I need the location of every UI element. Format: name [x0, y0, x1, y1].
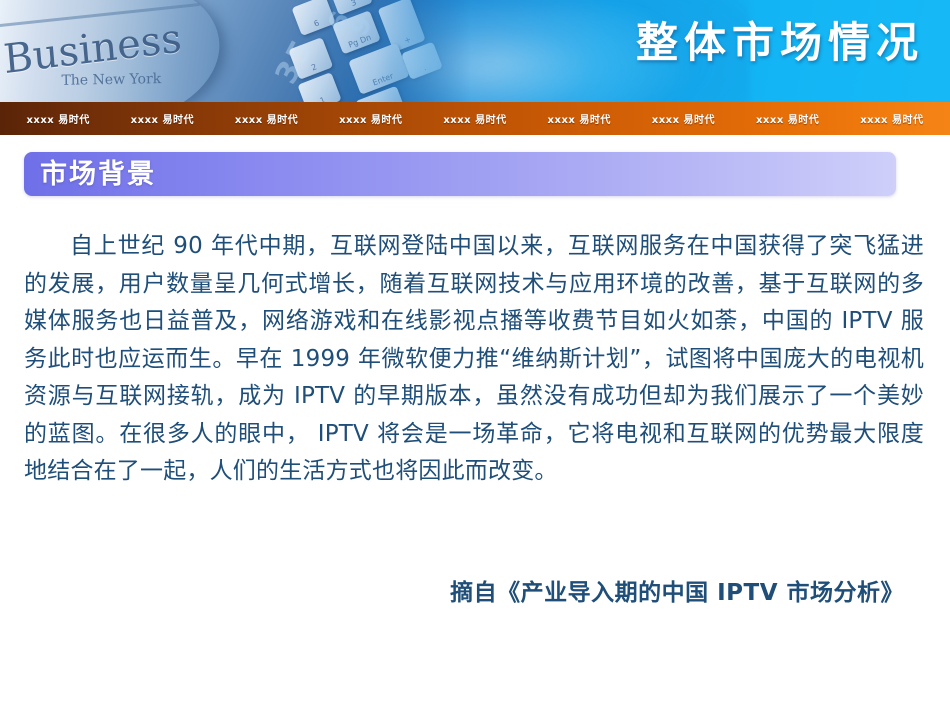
- branding-label: xxxx 易时代: [652, 111, 715, 126]
- branding-label: xxxx 易时代: [26, 111, 89, 126]
- branding-label: xxxx 易时代: [443, 111, 506, 126]
- banner-photo-mask: 6 3 Pg Dn 2 1 + Enter . Del 6 9 35 Bu: [0, 0, 470, 102]
- body-paragraph: 自上世纪 90 年代中期，互联网登陆中国以来，互联网服务在中国获得了突飞猛进的发…: [24, 228, 924, 491]
- branding-label: xxxx 易时代: [131, 111, 194, 126]
- branding-label: xxxx 易时代: [235, 111, 298, 126]
- branding-strip: xxxx 易时代 xxxx 易时代 xxxx 易时代 xxxx 易时代 xxxx…: [0, 102, 950, 135]
- keyboard-key: +: [378, 0, 426, 52]
- branding-label: xxxx 易时代: [548, 111, 611, 126]
- page-title: 整体市场情况: [636, 22, 924, 64]
- banner-photo: 6 3 Pg Dn 2 1 + Enter . Del 6 9 35 Bu: [0, 0, 470, 102]
- source-attribution: 摘自《产业导入期的中国 IPTV 市场分析》: [24, 573, 904, 607]
- content-area: 自上世纪 90 年代中期，互联网登陆中国以来，互联网服务在中国获得了突飞猛进的发…: [24, 228, 924, 608]
- branding-strip-items: xxxx 易时代 xxxx 易时代 xxxx 易时代 xxxx 易时代 xxxx…: [0, 111, 950, 126]
- branding-label: xxxx 易时代: [339, 111, 402, 126]
- slide-root: 6 3 Pg Dn 2 1 + Enter . Del 6 9 35 Bu: [0, 0, 950, 713]
- newspaper-subtitle: The New York: [61, 71, 161, 89]
- branding-label: xxxx 易时代: [756, 111, 819, 126]
- branding-label: xxxx 易时代: [860, 111, 923, 126]
- section-header-bar: 市场背景: [24, 152, 896, 196]
- section-title: 市场背景: [40, 161, 156, 188]
- header-banner: 6 3 Pg Dn 2 1 + Enter . Del 6 9 35 Bu: [0, 0, 950, 102]
- keyboard-key: Enter: [348, 43, 409, 95]
- newspaper-graphic: Business The New York: [0, 0, 229, 102]
